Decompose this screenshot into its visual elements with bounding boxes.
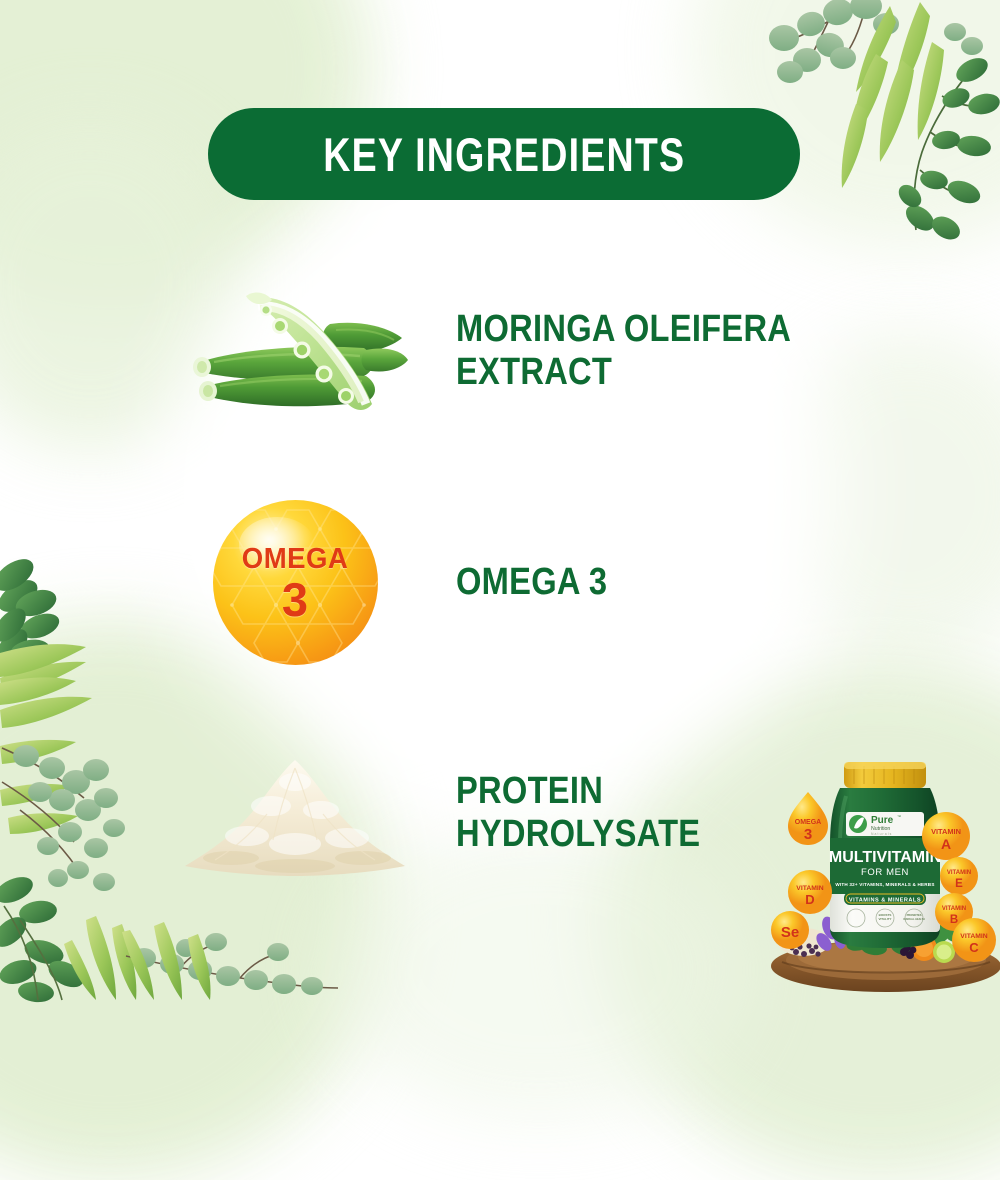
lime-slice	[933, 941, 955, 963]
brand-logo-block: Pure ™ Nutrition Naturals	[846, 812, 924, 836]
badge-vitamin-d: VITAMIN D	[788, 870, 832, 914]
seal-promotes-line1: PROMOTES	[907, 913, 922, 917]
product-for-text: FOR MEN	[861, 867, 909, 878]
key-ingredients-banner: KEY INGREDIENTS	[208, 108, 800, 200]
page-title: KEY INGREDIENTS	[323, 127, 685, 182]
brand-name-text: Pure	[871, 815, 894, 826]
product-ribbon-text: VITAMINS & MINERALS	[849, 898, 921, 904]
badge-vitamin-e-line1: VITAMIN	[947, 870, 971, 876]
ingredient-label-protein-line2: HYDROLYSATE	[456, 813, 700, 856]
supplement-bottle: Pure ™ Nutrition Naturals MULTIVITAMIN F…	[829, 762, 941, 948]
badge-vitamin-c: VITAMIN C	[952, 918, 996, 962]
badge-vitamin-c-line1: VITAMIN	[960, 933, 988, 940]
badge-vitamin-b-line2: B	[950, 914, 958, 926]
omega-badge-number: 3	[282, 578, 308, 623]
badge-omega-3: OMEGA 3	[788, 792, 828, 845]
ingredient-label-moringa: MORINGA OLEIFERA EXTRACT	[456, 308, 791, 393]
badge-vitamin-e: VITAMIN E	[940, 857, 978, 895]
ingredient-label-moringa-line1: MORINGA OLEIFERA	[456, 308, 791, 351]
badge-selenium-line2: Se	[781, 924, 799, 941]
badge-vitamin-a-line2: A	[941, 836, 951, 852]
product-bottle-image: Pure ™ Nutrition Naturals MULTIVITAMIN F…	[768, 752, 998, 1000]
badge-omega-3-line2: 3	[804, 826, 812, 843]
brand-tagline-text: Naturals	[871, 832, 892, 836]
omega-badge-word: OMEGA	[242, 543, 348, 576]
ingredient-label-protein-line1: PROTEIN	[456, 770, 700, 813]
ingredient-label-moringa-line2: EXTRACT	[456, 351, 791, 394]
ingredient-row-omega3: OMEGA 3 OMEGA 3	[150, 490, 870, 675]
badge-vitamin-b-line1: VITAMIN	[942, 906, 966, 912]
ingredient-label-omega3-line1: OMEGA 3	[456, 561, 607, 604]
badge-vitamin-a: VITAMIN A	[922, 812, 970, 860]
product-desc-text: WITH 32+ VITAMINS, MINERALS & HERBS	[835, 882, 934, 887]
badge-selenium: Se	[771, 911, 809, 949]
badge-vitamin-a-line1: VITAMIN	[931, 827, 961, 836]
badge-vitamin-d-line1: VITAMIN	[796, 885, 824, 892]
protein-powder-image	[175, 748, 415, 878]
ingredient-label-omega3: OMEGA 3	[456, 561, 607, 604]
omega-3-badge: OMEGA 3	[213, 500, 378, 665]
ingredient-row-moringa: MORINGA OLEIFERA EXTRACT	[150, 268, 870, 433]
badge-vitamin-d-line2: D	[805, 892, 814, 907]
seal-promotes-line2: OVERALL HEALTH	[903, 918, 925, 921]
product-ribbon: VITAMINS & MINERALS	[844, 892, 926, 905]
seal-boosts-line2: VITALITY	[878, 917, 891, 921]
bottle-cap	[844, 762, 926, 788]
omega-3-badge-visual: OMEGA 3	[150, 490, 440, 675]
brand-trademark-text: ™	[897, 814, 901, 819]
badge-vitamin-c-line2: C	[969, 940, 979, 955]
badge-omega-3-line1: OMEGA	[795, 819, 821, 826]
protein-powder-visual	[150, 730, 440, 895]
moringa-pods-visual	[150, 268, 440, 433]
badge-vitamin-e-line2: E	[955, 878, 963, 890]
ingredient-label-protein: PROTEIN HYDROLYSATE	[456, 770, 700, 855]
product-name-text: MULTIVITAMIN	[829, 849, 941, 866]
ingredient-row-protein: PROTEIN HYDROLYSATE	[150, 730, 870, 895]
moringa-pod-right-tip	[362, 348, 409, 371]
moringa-pods-image	[180, 276, 410, 426]
